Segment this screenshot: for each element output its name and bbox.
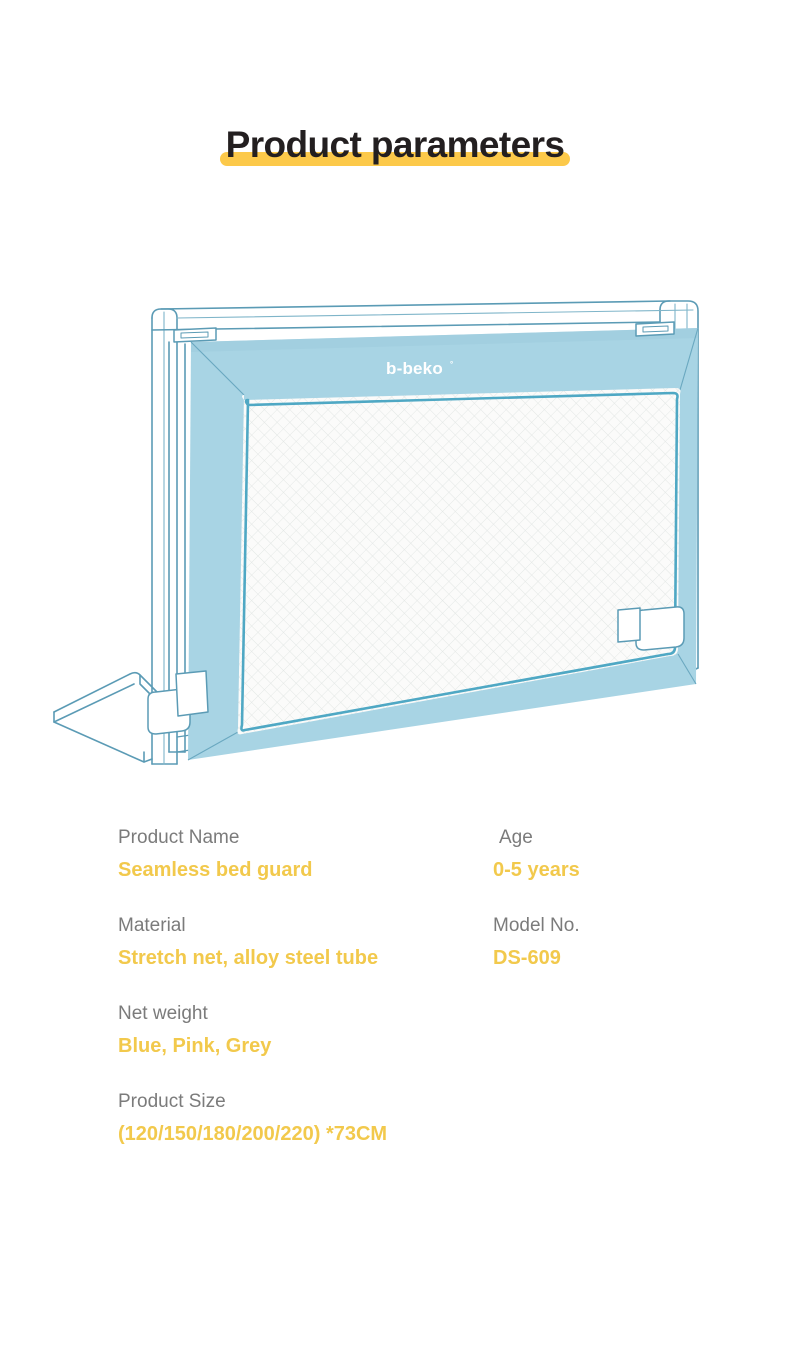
spec-value-product-size: (120/150/180/200/220) *73CM — [118, 1124, 493, 1144]
page-title: Product parameters — [220, 126, 571, 163]
table-row: Material Stretch net, alloy steel tube M… — [118, 916, 718, 968]
spec-table: Product Name Seamless bed guard Age 0-5 … — [118, 828, 718, 1144]
spec-cell-model-no: Model No. DS-609 — [493, 916, 718, 968]
page-title-text: Product parameters — [226, 124, 565, 165]
spec-label-material: Material — [118, 916, 493, 935]
product-illustration: b-beko ° — [48, 282, 748, 782]
spec-label-net-weight: Net weight — [118, 1004, 493, 1023]
table-row: Product Name Seamless bed guard Age 0-5 … — [118, 828, 718, 880]
spec-cell-product-size: Product Size (120/150/180/200/220) *73CM — [118, 1092, 493, 1144]
spec-value-product-name: Seamless bed guard — [118, 860, 493, 880]
spec-label-age: Age — [493, 828, 718, 847]
spec-cell-empty — [493, 1092, 718, 1144]
spec-label-model-no: Model No. — [493, 916, 718, 935]
spec-cell-net-weight: Net weight Blue, Pink, Grey — [118, 1004, 493, 1056]
spec-value-material: Stretch net, alloy steel tube — [118, 948, 493, 968]
table-row: Net weight Blue, Pink, Grey — [118, 1004, 718, 1056]
top-rail — [152, 301, 693, 330]
table-row: Product Size (120/150/180/200/220) *73CM — [118, 1092, 718, 1144]
spec-value-net-weight: Blue, Pink, Grey — [118, 1036, 493, 1056]
spec-cell-material: Material Stretch net, alloy steel tube — [118, 916, 493, 968]
spec-label-product-name: Product Name — [118, 828, 493, 847]
spec-cell-empty — [493, 1004, 718, 1056]
brand-logo-mark: ° — [450, 360, 453, 369]
page-title-container: Product parameters — [0, 126, 790, 163]
brand-logo-text: b-beko — [386, 359, 443, 378]
spec-label-product-size: Product Size — [118, 1092, 493, 1111]
spec-cell-product-name: Product Name Seamless bed guard — [118, 828, 493, 880]
spec-cell-age: Age 0-5 years — [493, 828, 718, 880]
spec-value-age: 0-5 years — [493, 860, 718, 880]
spec-value-model-no: DS-609 — [493, 948, 718, 968]
